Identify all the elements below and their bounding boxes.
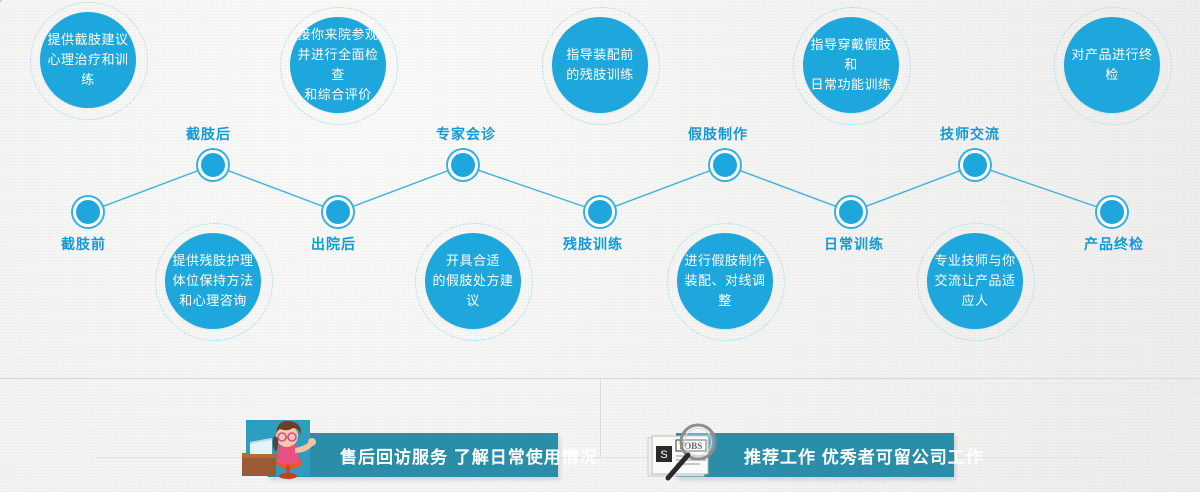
timeline-node-expert-consult[interactable] xyxy=(448,150,478,180)
bubble-expert-consult-text: 指导装配前 的残肢训练 xyxy=(560,45,640,85)
bubble-prosthesis-make[interactable]: 指导穿戴假肢和 日常功能训练 xyxy=(803,17,899,113)
timeline-node-prosthesis-make[interactable] xyxy=(710,150,740,180)
bubble-ring xyxy=(0,0,2,2)
banner-job-recommendation[interactable]: 推荐工作 优秀者可留公司工作 xyxy=(676,433,954,477)
timeline-node-stump-training[interactable] xyxy=(585,197,615,227)
timeline-label-prosthesis-make: 假肢制作 xyxy=(688,124,748,144)
bubble-daily-training[interactable]: 进行假肢制作 装配、对线调整 xyxy=(677,233,773,329)
bubble-stump-training[interactable]: 开具合适 的假肢处方建议 xyxy=(425,233,521,329)
timeline-label-stump-training: 残肢训练 xyxy=(563,234,623,254)
bubble-tech-exchange[interactable]: 对产品进行终检 xyxy=(1064,17,1160,113)
timeline-label-pre-amputation: 截肢前 xyxy=(61,234,106,254)
bubble-post-amputation-text: 接你来院参观 并进行全面检查 和综合评价 xyxy=(290,25,386,105)
timeline-label-expert-consult: 专家会诊 xyxy=(436,124,496,144)
bubble-tech-exchange-text: 对产品进行终检 xyxy=(1064,45,1160,85)
timeline-label-post-discharge: 出院后 xyxy=(311,234,356,254)
bubble-stump-training-text: 开具合适 的假肢处方建议 xyxy=(425,251,521,311)
flow-diagram-canvas: 提供截肢建议 心理治疗和训练接你来院参观 并进行全面检查 和综合评价指导装配前 … xyxy=(0,0,1200,492)
svg-text:S: S xyxy=(660,449,667,461)
bubble-final-inspection[interactable]: 专业技师与你 交流让产品适应人 xyxy=(927,233,1023,329)
section-divider-vertical xyxy=(600,378,601,457)
bubble-expert-consult[interactable]: 指导装配前 的残肢训练 xyxy=(552,17,648,113)
timeline-label-tech-exchange: 技师交流 xyxy=(940,124,1000,144)
timeline-node-daily-training[interactable] xyxy=(836,197,866,227)
banner-after-sales[interactable]: 售后回访服务 了解日常使用情况 xyxy=(268,433,558,477)
banner-job-recommendation-label: 推荐工作 优秀者可留公司工作 xyxy=(744,443,984,468)
bubble-pre-amputation-text: 提供截肢建议 心理治疗和训练 xyxy=(40,30,136,90)
bubble-final-inspection-text: 专业技师与你 交流让产品适应人 xyxy=(927,251,1023,311)
bubble-pre-amputation[interactable]: 提供截肢建议 心理治疗和训练 xyxy=(40,12,136,108)
timeline-label-daily-training: 日常训练 xyxy=(824,234,884,254)
bubble-post-discharge[interactable]: 提供残肢护理 体位保持方法 和心理咨询 xyxy=(165,233,261,329)
timeline-label-post-amputation: 截肢后 xyxy=(186,124,231,144)
timeline-label-final-inspection: 产品终检 xyxy=(1084,234,1144,254)
timeline-node-post-discharge[interactable] xyxy=(323,197,353,227)
bubble-post-discharge-text: 提供残肢护理 体位保持方法 和心理咨询 xyxy=(166,251,259,311)
timeline-node-pre-amputation[interactable] xyxy=(73,197,103,227)
bubble-post-amputation[interactable]: 接你来院参观 并进行全面检查 和综合评价 xyxy=(290,17,386,113)
timeline-node-tech-exchange[interactable] xyxy=(960,150,990,180)
banner-after-sales-label: 售后回访服务 了解日常使用情况 xyxy=(340,443,598,468)
bubble-prosthesis-make-text: 指导穿戴假肢和 日常功能训练 xyxy=(803,35,899,95)
timeline-node-final-inspection[interactable] xyxy=(1097,197,1127,227)
bubble-daily-training-text: 进行假肢制作 装配、对线调整 xyxy=(677,251,773,311)
timeline-node-post-amputation[interactable] xyxy=(198,150,228,180)
